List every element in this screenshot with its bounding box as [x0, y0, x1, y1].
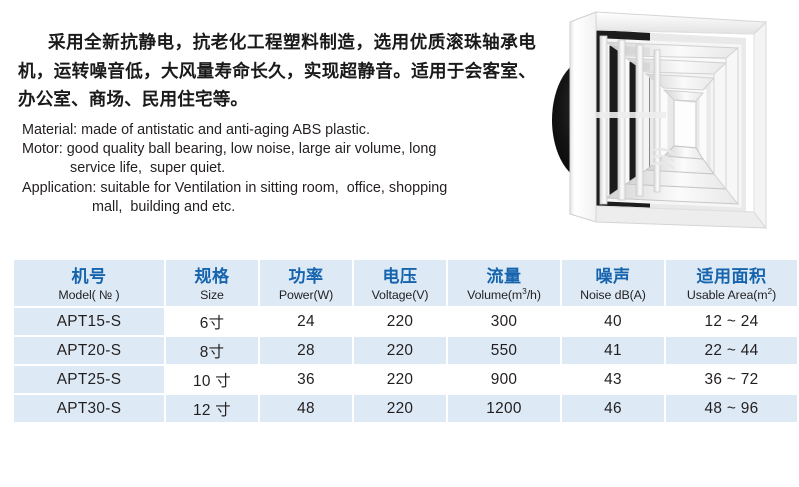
description-english-line: Motor: good quality ball bearing, low no… [22, 140, 540, 159]
table-row: APT20-S 8寸 28 220 550 41 22 ~ 44 [14, 337, 797, 364]
cell-noise: 43 [562, 366, 664, 393]
cell-power: 28 [260, 337, 352, 364]
cell-volume: 1200 [448, 395, 560, 422]
cell-voltage: 220 [354, 395, 446, 422]
description-english-line: Material: made of antistatic and anti-ag… [22, 121, 540, 140]
cell-noise: 40 [562, 308, 664, 335]
column-header-model: 机号 Model( № ) [14, 260, 164, 306]
product-description: 采用全新抗静电，抗老化工程塑料制造，选用优质滚珠轴承电机，运转噪音低，大风量寿命… [0, 28, 548, 218]
cell-volume: 550 [448, 337, 560, 364]
cell-usable-area: 36 ~ 72 [666, 366, 797, 393]
column-header-en: Size [166, 287, 258, 303]
cell-size: 10 寸 [166, 366, 258, 393]
cell-model: APT15-S [14, 308, 164, 335]
cell-size: 8寸 [166, 337, 258, 364]
cell-model: APT20-S [14, 337, 164, 364]
column-header-noise: 噪声 Noise dB(A) [562, 260, 664, 306]
column-header-en: Power(W) [260, 287, 352, 303]
cell-voltage: 220 [354, 308, 446, 335]
column-header-volume: 流量 Volume(m3/h) [448, 260, 560, 306]
cell-size: 12 寸 [166, 395, 258, 422]
column-header-usable-area: 适用面积 Usable Area(m2) [666, 260, 797, 306]
column-header-en: Usable Area(m2) [666, 287, 797, 303]
cell-volume: 900 [448, 366, 560, 393]
column-header-en: Model( № ) [14, 287, 164, 303]
product-image [548, 0, 799, 240]
table-row: APT30-S 12 寸 48 220 1200 46 48 ~ 96 [14, 395, 797, 422]
column-header-en: Voltage(V) [354, 287, 446, 303]
cell-power: 36 [260, 366, 352, 393]
column-header-en: Noise dB(A) [562, 287, 664, 303]
column-header-cn: 电压 [354, 264, 446, 287]
cell-voltage: 220 [354, 366, 446, 393]
cell-power: 24 [260, 308, 352, 335]
column-header-cn: 功率 [260, 264, 352, 287]
specification-table: 机号 Model( № ) 规格 Size 功率 Power(W) 电压 Vol… [12, 258, 799, 424]
cell-model: APT30-S [14, 395, 164, 422]
description-english-line: service life, super quiet. [22, 159, 540, 178]
description-chinese: 采用全新抗静电，抗老化工程塑料制造，选用优质滚珠轴承电机，运转噪音低，大风量寿命… [0, 28, 548, 114]
table-row: APT15-S 6寸 24 220 300 40 12 ~ 24 [14, 308, 797, 335]
column-header-size: 规格 Size [166, 260, 258, 306]
cell-voltage: 220 [354, 337, 446, 364]
cell-size: 6寸 [166, 308, 258, 335]
cell-model: APT25-S [14, 366, 164, 393]
column-header-cn: 规格 [166, 264, 258, 287]
cell-power: 48 [260, 395, 352, 422]
description-english-line: Application: suitable for Ventilation in… [22, 179, 540, 198]
description-english-line: mall, building and etc. [22, 198, 540, 217]
cell-noise: 41 [562, 337, 664, 364]
column-header-power: 功率 Power(W) [260, 260, 352, 306]
column-header-cn: 适用面积 [666, 264, 797, 287]
ceiling-fan-illustration [548, 0, 799, 240]
description-english: Material: made of antistatic and anti-ag… [0, 121, 548, 218]
cell-usable-area: 48 ~ 96 [666, 395, 797, 422]
column-header-cn: 噪声 [562, 264, 664, 287]
cell-usable-area: 22 ~ 44 [666, 337, 797, 364]
table-header-row: 机号 Model( № ) 规格 Size 功率 Power(W) 电压 Vol… [14, 260, 797, 306]
louver-well [588, 25, 753, 220]
cell-noise: 46 [562, 395, 664, 422]
cell-volume: 300 [448, 308, 560, 335]
cell-usable-area: 12 ~ 24 [666, 308, 797, 335]
column-header-voltage: 电压 Voltage(V) [354, 260, 446, 306]
inner-square [674, 100, 696, 148]
column-header-cn: 流量 [448, 264, 560, 287]
column-header-cn: 机号 [14, 264, 164, 287]
table-row: APT25-S 10 寸 36 220 900 43 36 ~ 72 [14, 366, 797, 393]
column-header-en: Volume(m3/h) [448, 287, 560, 303]
